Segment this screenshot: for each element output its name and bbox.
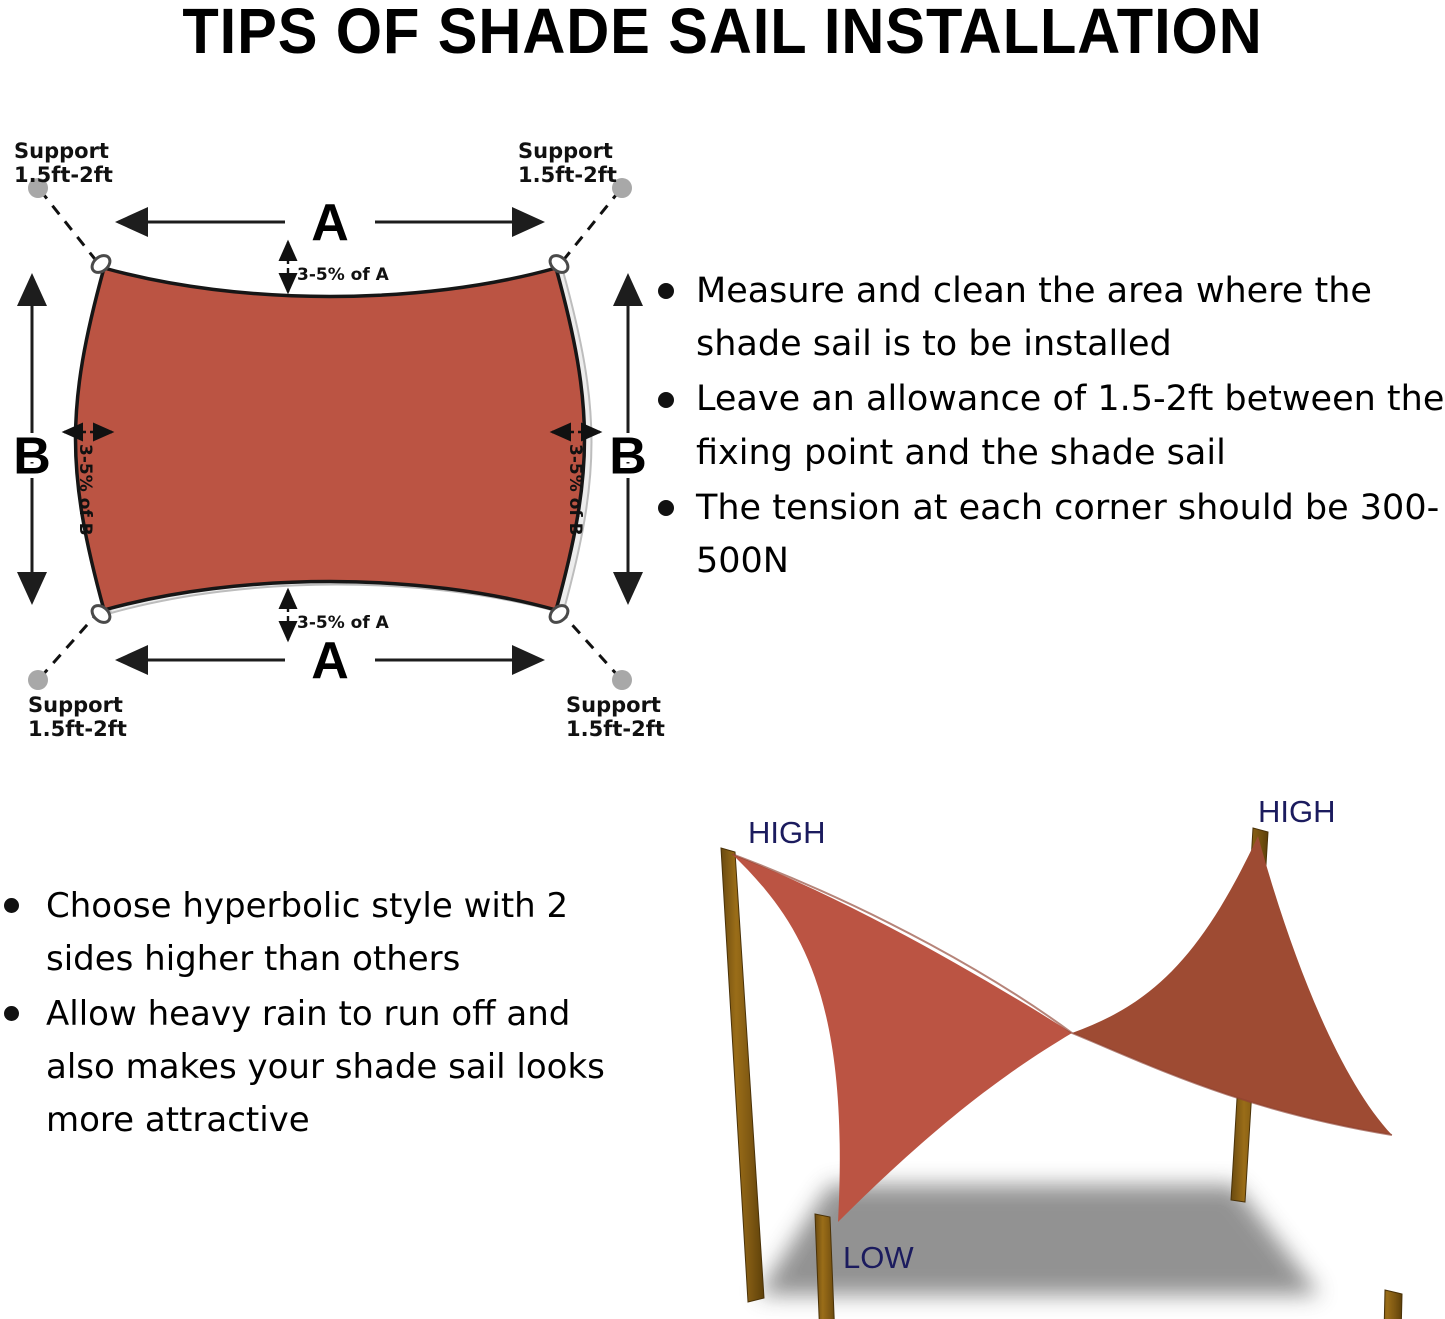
bullet-dot-icon — [658, 500, 674, 516]
support-label-bottom-left-line1: Support — [28, 693, 123, 717]
dimension-label-A-bottom: A — [311, 632, 349, 690]
support-label-bottom-right-line1: Support — [566, 693, 661, 717]
rectangular-sail-diagram: A A B B 3-5% of — [0, 160, 660, 740]
support-label-top-left-line1: Support — [14, 139, 109, 163]
list-item: The tension at each corner should be 300… — [650, 482, 1445, 588]
curvature-label-top: 3-5% of A — [297, 265, 390, 285]
support-label-top-right-line1: Support — [518, 139, 613, 163]
curvature-label-left: 3-5% of B — [75, 444, 95, 536]
installation-tips-list: Measure and clean the area where the sha… — [650, 265, 1445, 685]
hyperbolic-style-list: Choose hyperbolic style with 2 sides hig… — [0, 880, 640, 1210]
dimension-label-A-top: A — [311, 194, 349, 252]
tip-text: The tension at each corner should be 300… — [696, 488, 1439, 581]
dimension-label-B-left: B — [13, 428, 51, 486]
back-left-post — [721, 848, 764, 1302]
sail-rear-wing — [1072, 836, 1392, 1135]
curvature-label-bottom: 3-5% of A — [297, 613, 390, 633]
sail-body — [76, 268, 585, 610]
support-label-top-left-line2: 1.5ft-2ft — [14, 163, 113, 187]
page-root: TIPS OF SHADE SAIL INSTALLATION — [0, 0, 1445, 1319]
tip-text: Leave an allowance of 1.5-2ft between th… — [696, 379, 1444, 472]
front-right-post — [1379, 1290, 1402, 1319]
post-label-low-left: LOW — [843, 1240, 914, 1275]
dimension-label-B-right: B — [609, 428, 647, 486]
bullet-dot-icon — [658, 392, 674, 408]
list-item: Allow heavy rain to run off and also mak… — [0, 988, 640, 1147]
page-title: TIPS OF SHADE SAIL INSTALLATION — [51, 0, 1395, 65]
tip-text: Measure and clean the area where the sha… — [696, 271, 1372, 364]
curvature-label-right: 3-5% of B — [565, 444, 585, 536]
post-label-high-right: HIGH — [1258, 794, 1336, 829]
bullet-dot-icon — [658, 283, 674, 299]
list-item: Measure and clean the area where the sha… — [650, 265, 1445, 371]
bullet-dot-icon — [4, 1006, 19, 1021]
bullet-dot-icon — [4, 898, 19, 913]
style-text: Allow heavy rain to run off and also mak… — [46, 994, 605, 1140]
tips-bullet-list: Measure and clean the area where the sha… — [650, 265, 1445, 588]
style-text: Choose hyperbolic style with 2 sides hig… — [46, 886, 568, 979]
style-bullet-list: Choose hyperbolic style with 2 sides hig… — [0, 880, 640, 1147]
support-label-bottom-right-line2: 1.5ft-2ft — [566, 717, 665, 741]
list-item: Leave an allowance of 1.5-2ft between th… — [650, 373, 1445, 479]
support-label-bottom-left-line2: 1.5ft-2ft — [28, 717, 127, 741]
sail-front-wing — [732, 854, 1072, 1222]
list-item: Choose hyperbolic style with 2 sides hig… — [0, 880, 640, 986]
post-label-high-left: HIGH — [748, 815, 826, 850]
hyperbolic-sail-diagram: HIGH HIGH LOW LOW — [680, 790, 1445, 1319]
support-label-top-right-line2: 1.5ft-2ft — [518, 163, 617, 187]
